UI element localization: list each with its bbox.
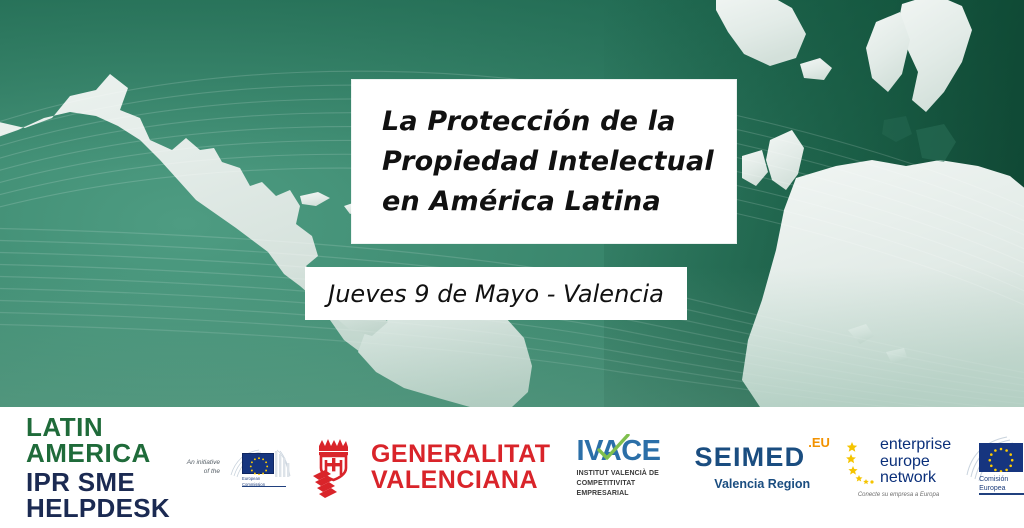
- title-line-1: La Protección de la: [382, 102, 736, 142]
- een-main-row: enterprise europe network: [846, 437, 951, 487]
- eu-initiative-mark: An initiative of the: [184, 445, 291, 491]
- european-commission-logo: Comisión Europea: [963, 435, 1024, 501]
- logo-ivace[interactable]: IVACE INSTITUT VALENCIÀ DE COMPETITIVITA…: [551, 407, 685, 528]
- een-stars-icon: [846, 438, 876, 486]
- helpdesk-wordmark: LATIN AMERICA IPR SME HELPDESK: [26, 414, 170, 521]
- ivace-check-icon: [597, 434, 631, 464]
- ec-rule-small: [242, 486, 286, 487]
- ivace-subtitle-line-2: COMPETITIVITAT EMPRESARIAL: [577, 479, 685, 499]
- ivace-wordmark: IVACE: [577, 436, 685, 466]
- een-tagline: Conecte su empresa a Europa: [858, 492, 939, 498]
- gva-line-2: VALENCIANA: [371, 468, 551, 494]
- logo-seimed[interactable]: SEIMED .EU Valencia Region: [685, 407, 840, 528]
- banner-hero: La Protección de la Propiedad Intelectua…: [0, 0, 1024, 407]
- een-word-1: enterprise: [880, 437, 951, 454]
- eu-flag: [979, 443, 1023, 472]
- seimed-eu-suffix: .EU: [808, 435, 830, 450]
- event-date-location: Jueves 9 de Mayo - Valencia: [328, 280, 664, 308]
- logo-enterprise-europe-network[interactable]: enterprise europe network Conecte su emp…: [840, 407, 957, 528]
- gva-line-1: GENERALITAT: [371, 442, 551, 468]
- eu-flag-small: [242, 453, 274, 474]
- logo-comision-europea[interactable]: Comisión Europea: [957, 407, 1024, 528]
- ec-rule: [979, 493, 1024, 495]
- sponsor-logo-bar: LATIN AMERICA IPR SME HELPDESK An initia…: [0, 407, 1024, 528]
- logo-generalitat-valenciana[interactable]: GENERALITAT VALENCIANA: [291, 407, 551, 528]
- initiative-caption-line-2: of the: [184, 468, 220, 477]
- title-line-2: Propiedad Intelectual: [382, 142, 736, 182]
- subtitle-box: Jueves 9 de Mayo - Valencia: [305, 267, 687, 320]
- ec-caption-line-1: Comisión: [979, 475, 1008, 484]
- generalitat-crown-shield-icon: [313, 438, 359, 498]
- een-word-3: network: [880, 470, 951, 487]
- initiative-caption: An initiative of the: [184, 459, 220, 477]
- ivace-subtitle-line-1: INSTITUT VALENCIÀ DE: [577, 469, 685, 479]
- helpdesk-line-2: IPR SME HELPDESK: [26, 469, 170, 521]
- initiative-caption-line-1: An initiative: [184, 459, 220, 468]
- helpdesk-line-1: LATIN AMERICA: [26, 414, 170, 466]
- title-line-3: en América Latina: [382, 182, 736, 222]
- ec-caption: Comisión Europea: [979, 475, 1008, 494]
- logo-latin-america-ipr-sme-helpdesk[interactable]: LATIN AMERICA IPR SME HELPDESK An initia…: [0, 407, 291, 528]
- seimed-wordmark: SEIMED: [695, 444, 806, 471]
- title-box: La Protección de la Propiedad Intelectua…: [352, 80, 736, 243]
- eu-stars-icon: [979, 443, 1023, 472]
- een-wordmark: enterprise europe network: [880, 437, 951, 487]
- gva-wordmark: GENERALITAT VALENCIANA: [371, 442, 551, 493]
- een-word-2: europe: [880, 454, 951, 471]
- european-commission-logo-small: European Commission: [225, 445, 291, 491]
- ivace-subtitle: INSTITUT VALENCIÀ DE COMPETITIVITAT EMPR…: [577, 469, 685, 499]
- eu-stars-small: [243, 454, 275, 475]
- poster-root: La Protección de la Propiedad Intelectua…: [0, 0, 1024, 528]
- seimed-wordmark-row: SEIMED .EU: [695, 444, 830, 471]
- seimed-subtitle: Valencia Region: [714, 477, 810, 491]
